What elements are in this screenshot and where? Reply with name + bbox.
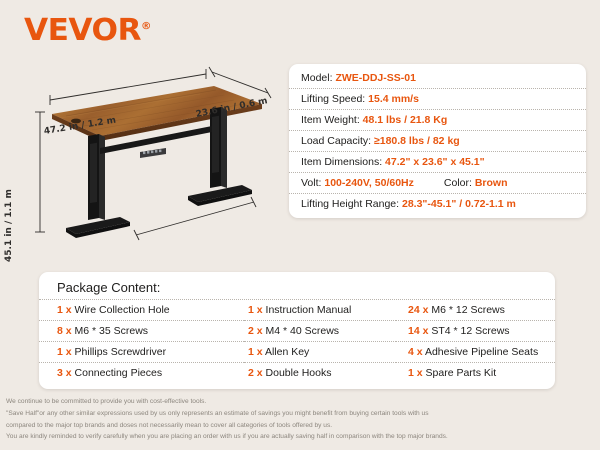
package-item-name: M6 * 35 Screws [75, 325, 149, 337]
product-illustration: 47.2 in / 1.2 m 23.6 in / 0.6 m 45.1 in … [0, 52, 290, 262]
standing-desk-drawing [0, 52, 290, 262]
spec-label-item-dimensions: Item Dimensions: [301, 156, 382, 168]
specification-card: Model: ZWE-DDJ-SS-01 Lifting Speed: 15.4… [289, 64, 586, 218]
spec-row-load-capacity: Load Capacity: ≥180.8 lbs / 82 kg [289, 131, 586, 152]
package-item-qty: 1 x [248, 346, 263, 358]
package-item: 1 x Spare Parts Kit [396, 363, 555, 383]
package-item-qty: 2 x [248, 367, 263, 379]
spec-segment-color: Color: Brown [444, 177, 508, 189]
package-item-qty: 2 x [248, 325, 263, 337]
package-item-name: Double Hooks [266, 367, 332, 379]
right-leg [210, 107, 227, 188]
package-item-qty: 1 x [57, 346, 72, 358]
package-item-qty: 14 x [408, 325, 428, 337]
disclaimer-line-1: We continue to be committed to provide y… [6, 396, 596, 408]
spec-value-model: ZWE-DDJ-SS-01 [335, 72, 416, 84]
spec-value-volt: 100-240V, 50/60Hz [324, 177, 414, 189]
spec-row-model: Model: ZWE-DDJ-SS-01 [289, 68, 586, 89]
package-item: 8 x M6 * 35 Screws [39, 321, 244, 342]
package-item: 24 x M6 * 12 Screws [396, 300, 555, 321]
dimension-label-height: 45.1 in / 1.1 m [4, 189, 14, 262]
package-item-name: Allen Key [265, 346, 309, 358]
disclaimer-line-4: You are kindly reminded to verify carefu… [6, 431, 596, 443]
package-item-name: Wire Collection Hole [75, 304, 170, 316]
package-item: 1 x Phillips Screwdriver [39, 342, 244, 363]
package-item-name: Connecting Pieces [75, 367, 163, 379]
spec-segment-volt: Volt: 100-240V, 50/60Hz [301, 177, 414, 189]
package-item-name: M4 * 40 Screws [266, 325, 340, 337]
spec-label-lifting-height-range: Lifting Height Range: [301, 198, 399, 210]
spec-label-load-capacity: Load Capacity: [301, 135, 371, 147]
spec-row-item-weight: Item Weight: 48.1 lbs / 21.8 Kg [289, 110, 586, 131]
package-item-qty: 1 x [57, 304, 72, 316]
package-item: 3 x Connecting Pieces [39, 363, 244, 383]
package-item: 4 x Adhesive Pipeline Seats [396, 342, 555, 363]
package-item-qty: 4 x [408, 346, 423, 358]
disclaimer-line-3: compared to the major top brands and dos… [6, 420, 596, 432]
package-item: 1 x Allen Key [244, 342, 396, 363]
control-panel [140, 148, 166, 158]
spec-label-lifting-speed: Lifting Speed: [301, 93, 365, 105]
spec-value-color: Brown [475, 177, 508, 189]
spec-label-color: Color: [444, 177, 472, 189]
right-foot [188, 185, 252, 206]
disclaimer-text: We continue to be committed to provide y… [6, 396, 596, 443]
registered-trademark-icon: ® [141, 21, 151, 32]
spec-value-item-dimensions: 47.2" x 23.6" x 45.1" [385, 156, 485, 168]
package-item: 1 x Instruction Manual [244, 300, 396, 321]
package-item-name: M6 * 12 Screws [431, 304, 505, 316]
spec-value-lifting-speed: 15.4 mm/s [368, 93, 419, 105]
package-item: 2 x Double Hooks [244, 363, 396, 383]
package-item-name: Adhesive Pipeline Seats [425, 346, 538, 358]
disclaimer-line-2: "Save Half"or any other similar expressi… [6, 408, 596, 420]
spec-row-lifting-speed: Lifting Speed: 15.4 mm/s [289, 89, 586, 110]
vevor-logo: VEVOR® [24, 16, 151, 46]
package-content-title: Package Content: [39, 277, 555, 300]
spec-row-volt-color: Volt: 100-240V, 50/60Hz Color: Brown [289, 173, 586, 194]
spec-value-load-capacity: ≥180.8 lbs / 82 kg [374, 135, 460, 147]
spec-row-lifting-height-range: Lifting Height Range: 28.3"-45.1" / 0.72… [289, 194, 586, 214]
package-content-grid: 1 x Wire Collection Hole 1 x Instruction… [39, 300, 555, 383]
package-item-qty: 1 x [408, 367, 423, 379]
left-leg [88, 134, 105, 220]
package-item: 1 x Wire Collection Hole [39, 300, 244, 321]
spec-row-item-dimensions: Item Dimensions: 47.2" x 23.6" x 45.1" [289, 152, 586, 173]
package-item: 2 x M4 * 40 Screws [244, 321, 396, 342]
spec-label-model: Model: [301, 72, 333, 84]
package-item: 14 x ST4 * 12 Screws [396, 321, 555, 342]
package-item-name: Phillips Screwdriver [75, 346, 167, 358]
spec-value-lifting-height-range: 28.3"-45.1" / 0.72-1.1 m [402, 198, 516, 210]
package-item-qty: 3 x [57, 367, 72, 379]
left-foot [66, 217, 130, 238]
package-content-card: Package Content: 1 x Wire Collection Hol… [39, 272, 555, 389]
spec-label-volt: Volt: [301, 177, 321, 189]
package-item-name: Instruction Manual [266, 304, 352, 316]
package-item-name: Spare Parts Kit [426, 367, 497, 379]
spec-label-item-weight: Item Weight: [301, 114, 360, 126]
spec-value-item-weight: 48.1 lbs / 21.8 Kg [363, 114, 448, 126]
product-spec-page: VEVOR® [0, 0, 600, 450]
package-item-qty: 24 x [408, 304, 428, 316]
package-item-name: ST4 * 12 Screws [431, 325, 509, 337]
brand-name: VEVOR [24, 13, 141, 48]
package-item-qty: 1 x [248, 304, 263, 316]
package-item-qty: 8 x [57, 325, 72, 337]
